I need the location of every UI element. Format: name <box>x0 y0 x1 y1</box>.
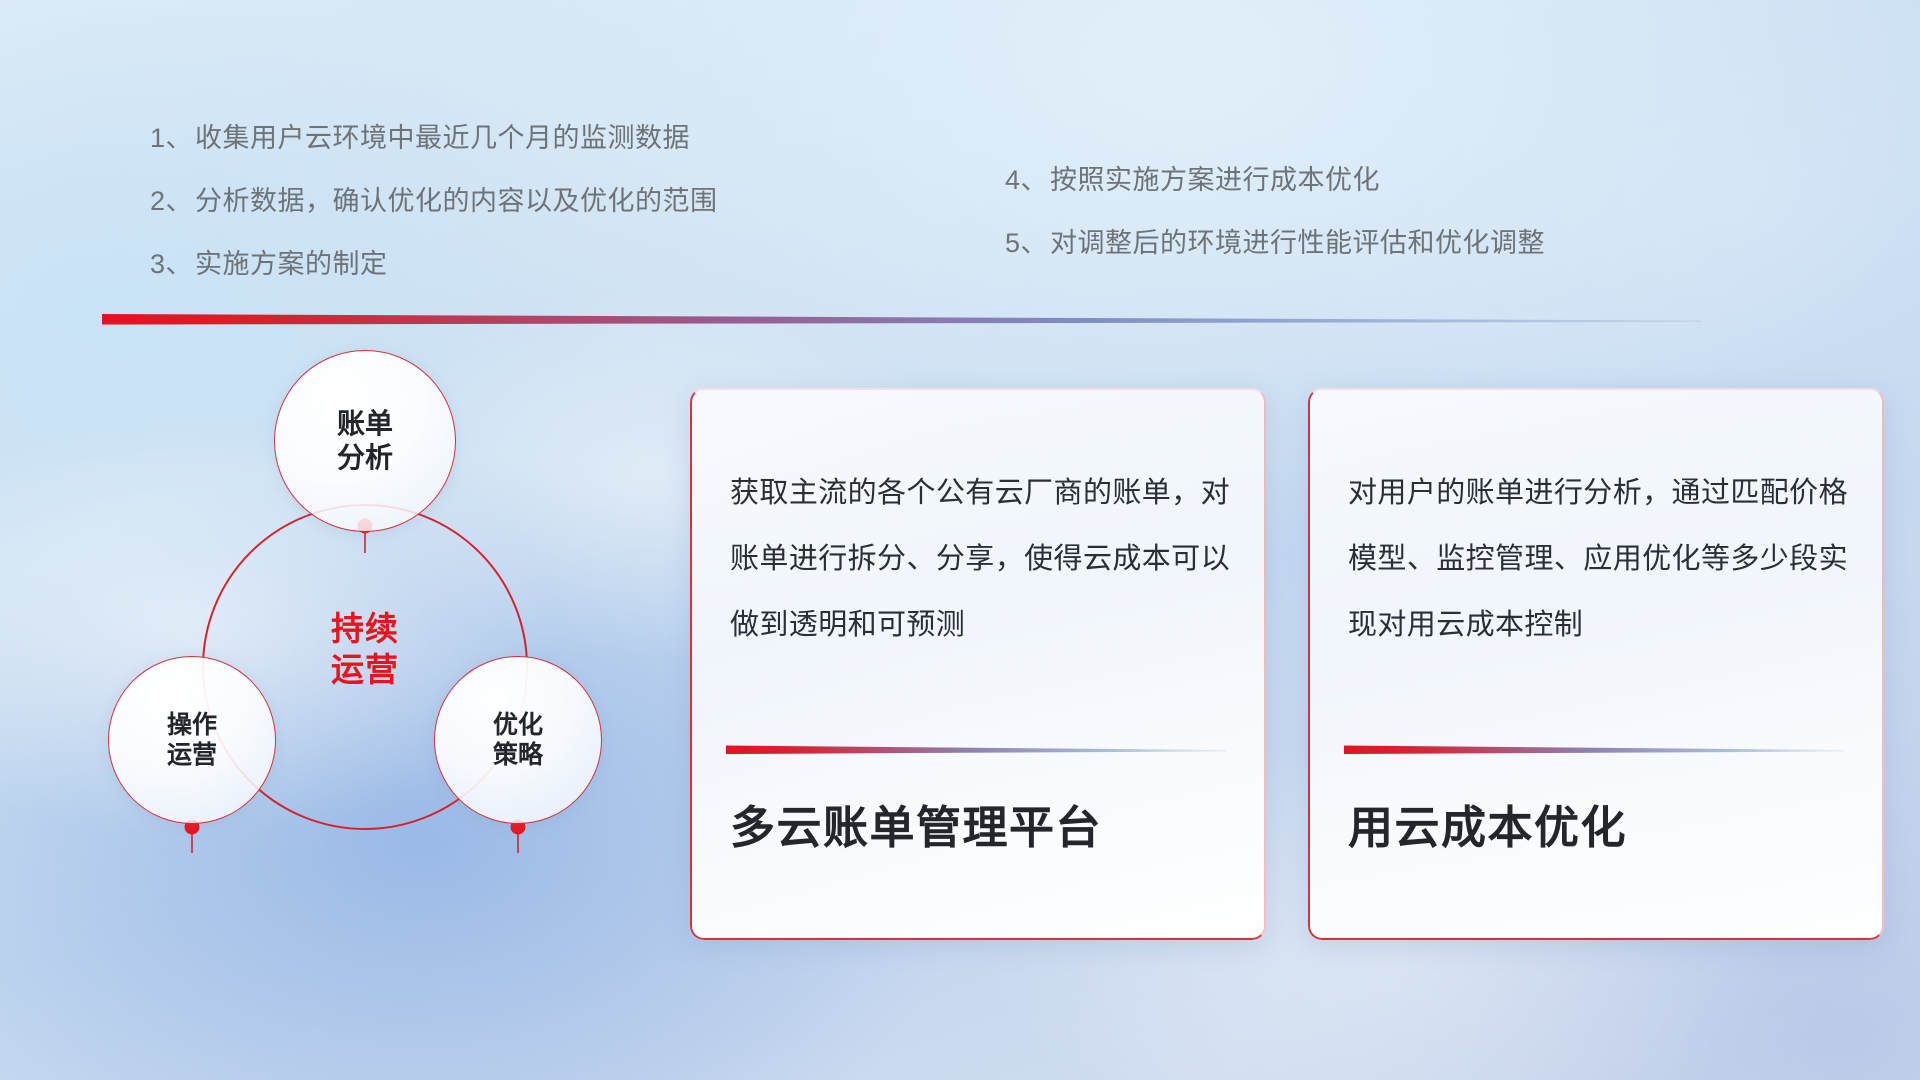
list-item-label: 实施方案的制定 <box>195 251 388 278</box>
center-label-line2: 运营 <box>280 649 450 690</box>
center-label-line1: 持续 <box>280 608 450 649</box>
list-item-number: 5、 <box>1005 230 1048 257</box>
node-label-line1: 操作 <box>167 710 217 741</box>
node-billing-analysis[interactable]: 账单 分析 <box>274 350 456 532</box>
list-item-number: 3、 <box>150 251 193 278</box>
node-label-line2: 分析 <box>337 441 393 475</box>
node-optimization-strategy[interactable]: 优化 策略 <box>434 656 602 824</box>
list-item-number: 4、 <box>1005 167 1048 194</box>
list-item-label: 分析数据，确认优化的内容以及优化的范围 <box>195 188 718 215</box>
card-cloud-cost-optimization[interactable]: 对用户的账单进行分析，通过匹配价格模型、监控管理、应用优化等多少段实现对用云成本… <box>1308 388 1884 940</box>
list-item-number: 2、 <box>150 188 193 215</box>
continuous-operations-diagram: 账单 分析 操作 运营 优化 策略 持续 运营 <box>90 350 650 950</box>
card-accent-rule <box>726 744 1226 755</box>
center-label: 持续 运营 <box>280 608 450 691</box>
list-item: 4、 按照实施方案进行成本优化 <box>1005 167 1545 194</box>
card-accent-rule <box>1344 744 1844 755</box>
list-item-label: 按照实施方案进行成本优化 <box>1050 167 1380 194</box>
steps-list-left: 1、 收集用户云环境中最近几个月的监测数据 2、 分析数据，确认优化的内容以及优… <box>150 125 718 314</box>
node-operations[interactable]: 操作 运营 <box>108 656 276 824</box>
card-multicloud-billing-platform[interactable]: 获取主流的各个公有云厂商的账单，对账单进行拆分、分享，使得云成本可以做到透明和可… <box>690 388 1266 940</box>
card-description: 获取主流的各个公有云厂商的账单，对账单进行拆分、分享，使得云成本可以做到透明和可… <box>730 460 1230 658</box>
list-item: 2、 分析数据，确认优化的内容以及优化的范围 <box>150 188 718 215</box>
list-item: 5、 对调整后的环境进行性能评估和优化调整 <box>1005 230 1545 257</box>
list-item-label: 对调整后的环境进行性能评估和优化调整 <box>1050 230 1545 257</box>
node-label-line1: 账单 <box>337 407 393 441</box>
card-description: 对用户的账单进行分析，通过匹配价格模型、监控管理、应用优化等多少段实现对用云成本… <box>1348 460 1848 658</box>
node-label-line2: 策略 <box>493 740 543 771</box>
list-item-number: 1、 <box>150 125 193 152</box>
steps-list-right: 4、 按照实施方案进行成本优化 5、 对调整后的环境进行性能评估和优化调整 <box>1005 167 1545 293</box>
card-title: 多云账单管理平台 <box>730 800 1102 856</box>
slide-canvas: 1、 收集用户云环境中最近几个月的监测数据 2、 分析数据，确认优化的内容以及优… <box>0 0 1920 1080</box>
list-item-label: 收集用户云环境中最近几个月的监测数据 <box>195 125 690 152</box>
section-divider <box>102 312 1702 326</box>
node-label-line2: 运营 <box>167 740 217 771</box>
list-item: 1、 收集用户云环境中最近几个月的监测数据 <box>150 125 718 152</box>
list-item: 3、 实施方案的制定 <box>150 251 718 278</box>
card-title: 用云成本优化 <box>1348 800 1627 856</box>
node-label-line1: 优化 <box>493 710 543 741</box>
